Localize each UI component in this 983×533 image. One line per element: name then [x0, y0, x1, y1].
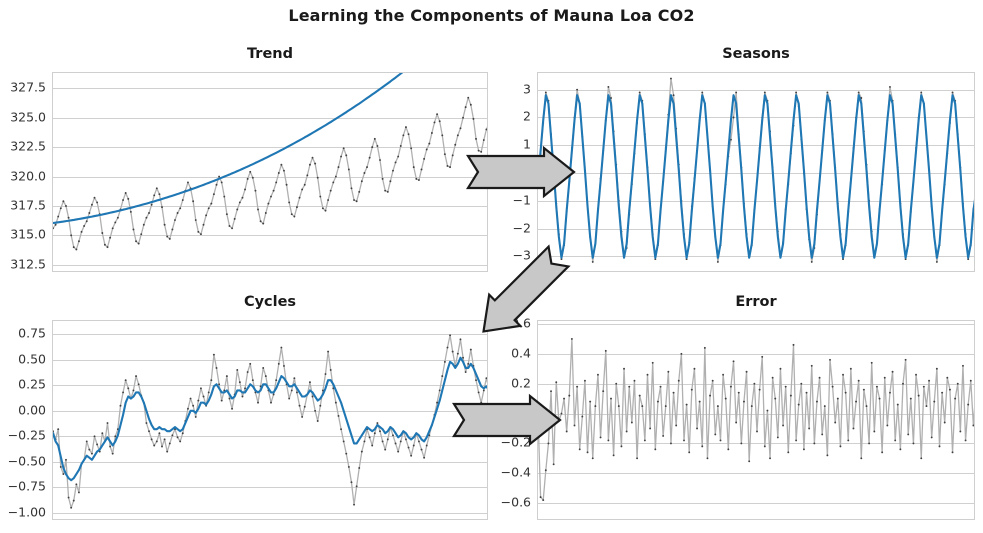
- plot-area-trend: [52, 72, 488, 272]
- subplot-trend: Trend 312.5315.0317.5320.0322.5325.0327.…: [52, 72, 488, 272]
- series-line-learned-seasonal-fit: [538, 95, 975, 258]
- y-axis-tick-label: −0.6: [501, 495, 537, 510]
- y-axis-tick-label: 317.5: [10, 197, 52, 212]
- plot-area-cycles: [52, 320, 488, 520]
- y-axis-tick-label: 320.0: [10, 168, 52, 183]
- subplot-title-cycles: Cycles: [52, 294, 488, 310]
- series-line-observed: [53, 98, 488, 250]
- y-axis-tick-label: −0.25: [8, 428, 52, 443]
- y-axis-tick-label: 0.25: [18, 377, 52, 392]
- subplot-title-error: Error: [537, 294, 975, 310]
- series-line-learned-cycle-fit: [53, 358, 488, 480]
- series-layer: [538, 73, 975, 272]
- plot-area-error: [537, 320, 975, 520]
- series-markers-observed: [52, 334, 488, 508]
- y-axis-tick-label: 0.00: [18, 402, 52, 417]
- y-axis-tick-label: −0.50: [8, 453, 52, 468]
- y-axis-tick-label: 325.0: [10, 109, 52, 124]
- y-axis-tick-label: 0.50: [18, 351, 52, 366]
- subplot-error: Error −0.6−0.4−0.20.00.20.40.6: [537, 320, 975, 520]
- series-layer: [53, 73, 488, 272]
- y-axis-tick-label: −0.75: [8, 479, 52, 494]
- subplot-title-trend: Trend: [52, 46, 488, 62]
- y-axis-tick-label: 0.2: [511, 375, 537, 390]
- y-axis-tick-label: 327.5: [10, 80, 52, 95]
- y-axis-tick-label: 3: [523, 81, 537, 96]
- y-axis-tick-label: −2: [513, 220, 537, 235]
- arrow-seasons-to-cycles: [466, 252, 576, 336]
- series-line-residual: [538, 339, 975, 500]
- subplot-seasons: Seasons −3−2−10123: [537, 72, 975, 272]
- subplot-title-seasons: Seasons: [537, 46, 975, 62]
- figure-title: Learning the Components of Mauna Loa CO2: [0, 6, 983, 25]
- series-layer: [538, 321, 975, 520]
- subplot-cycles: Cycles −1.00−0.75−0.50−0.250.000.250.500…: [52, 320, 488, 520]
- series-line-learned-trend-fit: [53, 72, 488, 223]
- y-axis-tick-label: 0.4: [511, 345, 537, 360]
- y-axis-tick-label: 312.5: [10, 256, 52, 271]
- y-axis-tick-label: −1.00: [8, 504, 52, 519]
- y-axis-tick-label: −0.4: [501, 465, 537, 480]
- y-axis-tick-label: 322.5: [10, 139, 52, 154]
- plot-area-seasons: [537, 72, 975, 272]
- y-axis-tick-label: 315.0: [10, 227, 52, 242]
- series-line-observed: [53, 335, 488, 507]
- arrow-trend-to-seasons: [466, 148, 576, 198]
- arrow-cycles-to-error: [452, 396, 562, 446]
- y-axis-tick-label: 2: [523, 109, 537, 124]
- series-layer: [53, 321, 488, 520]
- figure-canvas: Learning the Components of Mauna Loa CO2…: [0, 0, 983, 533]
- y-axis-tick-label: 0.75: [18, 326, 52, 341]
- series-markers-observed: [52, 97, 488, 251]
